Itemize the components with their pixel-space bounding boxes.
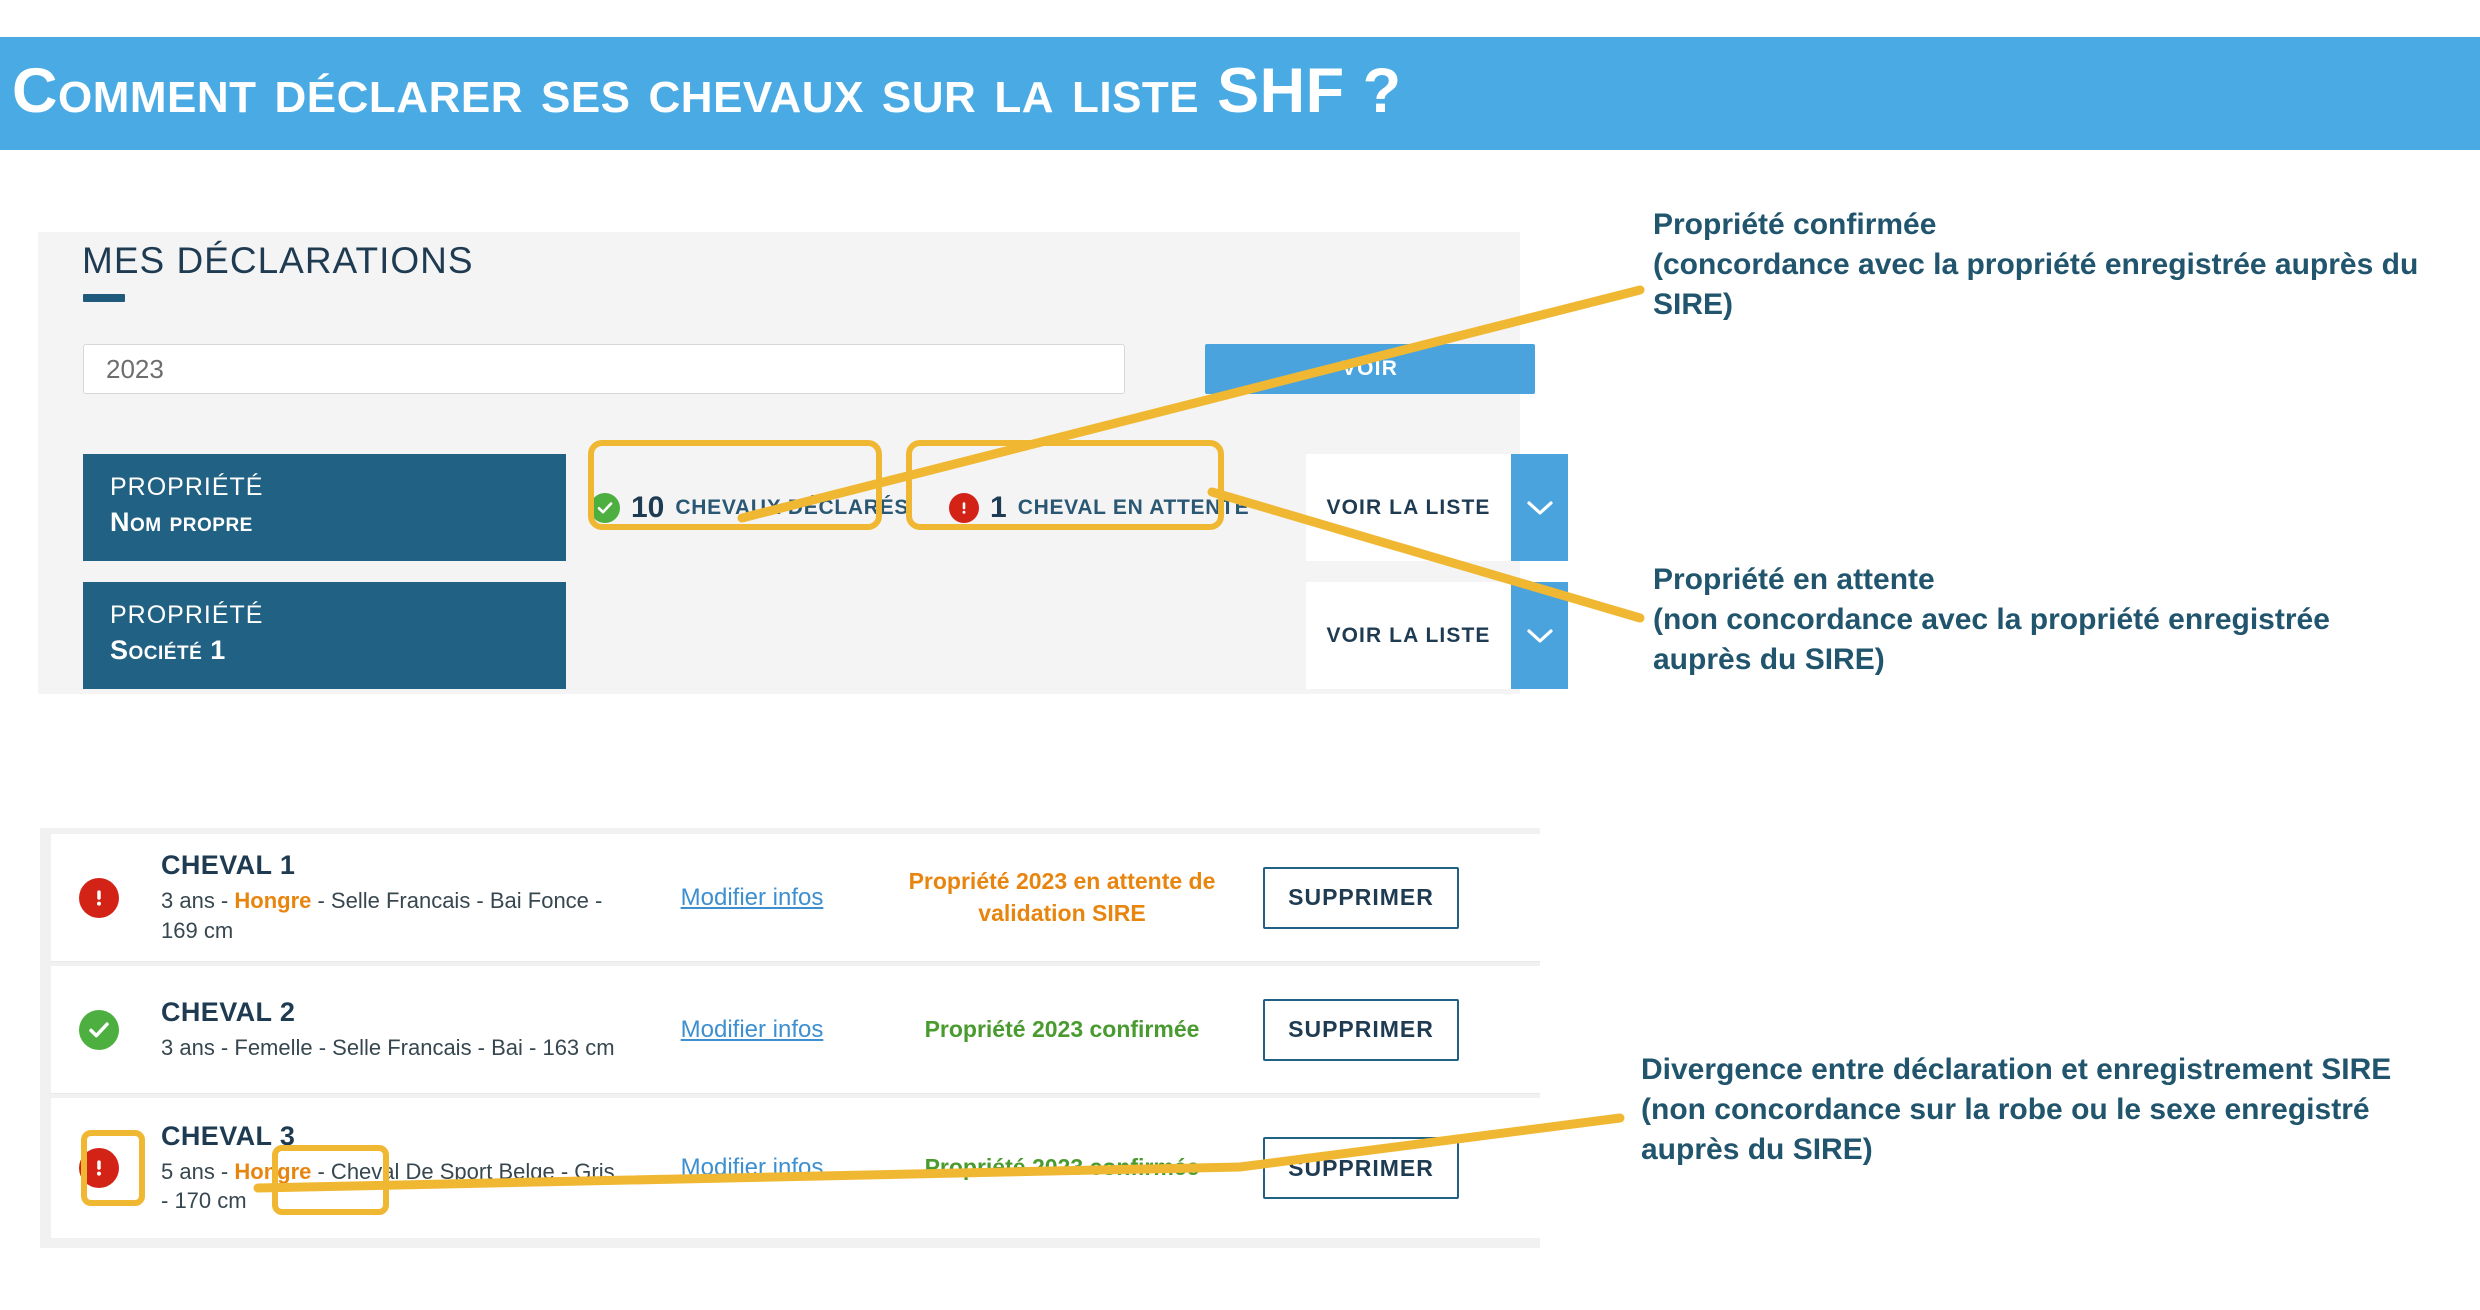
property-status: Propriété 2023 confirmée bbox=[877, 1014, 1247, 1046]
annotation-heading: Propriété en attente bbox=[1653, 560, 2353, 600]
property-status: Propriété 2023 en attente de validation … bbox=[877, 866, 1247, 929]
horse-desc-after: - Selle Francais - Bai - 163 cm bbox=[313, 1035, 615, 1060]
exclamation-circle-icon bbox=[79, 878, 119, 918]
action-cell: SUPPRIMER bbox=[1247, 867, 1540, 929]
horse-description: 5 ans - Hongre - Cheval De Sport Belge -… bbox=[161, 1157, 627, 1215]
property-owner-label: Nom propre bbox=[110, 505, 566, 540]
horse-name: CHEVAL 3 bbox=[161, 1121, 627, 1152]
property-status: Propriété 2023 confirmée bbox=[877, 1152, 1247, 1184]
status-cell bbox=[51, 1010, 147, 1050]
annotation-body: (concordance avec la propriété enregistr… bbox=[1653, 245, 2473, 325]
annotation-heading: Propriété confirmée bbox=[1653, 205, 2473, 245]
table-row: CHEVAL 1 3 ans - Hongre - Selle Francais… bbox=[51, 834, 1540, 962]
property-kind-label: PROPRIÉTÉ bbox=[110, 472, 566, 503]
badge-label: CHEVAUX DÉCLARÉS bbox=[675, 496, 909, 520]
modify-cell: Modifier infos bbox=[627, 884, 877, 912]
badge-cheval-en-attente[interactable]: 1 CHEVAL EN ATTENTE bbox=[935, 479, 1263, 537]
horse-name: CHEVAL 1 bbox=[161, 850, 627, 881]
table-row: CHEVAL 2 3 ans - Femelle - Selle Francai… bbox=[51, 966, 1540, 1094]
status-cell bbox=[51, 878, 147, 918]
supprimer-button[interactable]: SUPPRIMER bbox=[1263, 1137, 1459, 1199]
exclamation-circle-icon bbox=[79, 1148, 119, 1188]
annotation-heading: Divergence entre déclaration et enregist… bbox=[1641, 1050, 2441, 1090]
horse-sexe: Hongre bbox=[234, 888, 311, 913]
horse-info-cell: CHEVAL 2 3 ans - Femelle - Selle Francai… bbox=[147, 997, 627, 1062]
property-row-societe-1: PROPRIÉTÉ Société 1 VOIR LA LISTE bbox=[83, 582, 1568, 689]
property-label-block: PROPRIÉTÉ Nom propre bbox=[83, 454, 566, 561]
property-kind-label: PROPRIÉTÉ bbox=[110, 600, 566, 631]
voir-button[interactable]: VOIR bbox=[1205, 344, 1535, 394]
voir-la-liste-button[interactable]: VOIR LA LISTE bbox=[1306, 454, 1511, 561]
page-title: Comment déclarer ses chevaux sur la list… bbox=[12, 60, 1402, 123]
property-badges-area: 10 CHEVAUX DÉCLARÉS 1 CHEVAL EN ATTENTE bbox=[566, 454, 1306, 561]
horse-desc-before: 3 ans - bbox=[161, 1035, 234, 1060]
action-cell: SUPPRIMER bbox=[1247, 1137, 1540, 1199]
check-circle-icon bbox=[79, 1010, 119, 1050]
annotation-divergence: Divergence entre déclaration et enregist… bbox=[1641, 1050, 2441, 1170]
horse-desc-before: 3 ans - bbox=[161, 888, 234, 913]
property-row-nom-propre: PROPRIÉTÉ Nom propre 10 CHEVAUX DÉCLARÉS… bbox=[83, 454, 1568, 561]
badge-count: 10 bbox=[631, 491, 664, 525]
horse-desc-before: 5 ans - bbox=[161, 1159, 234, 1184]
property-owner-label: Société 1 bbox=[110, 633, 566, 668]
supprimer-button[interactable]: SUPPRIMER bbox=[1263, 867, 1459, 929]
annotation-body: (non concordance avec la propriété enreg… bbox=[1653, 600, 2353, 680]
slide-root: Comment déclarer ses chevaux sur la list… bbox=[0, 0, 2480, 1310]
annotation-propriete-confirmee: Propriété confirmée (concordance avec la… bbox=[1653, 205, 2473, 325]
table-row: CHEVAL 3 5 ans - Hongre - Cheval De Spor… bbox=[51, 1098, 1540, 1238]
badge-chevaux-declares[interactable]: 10 CHEVAUX DÉCLARÉS bbox=[576, 479, 923, 537]
title-underline bbox=[83, 294, 125, 302]
year-filter-row: VOIR bbox=[83, 344, 1473, 396]
horse-name: CHEVAL 2 bbox=[161, 997, 627, 1028]
annotation-propriete-en-attente: Propriété en attente (non concordance av… bbox=[1653, 560, 2353, 680]
status-cell bbox=[51, 1148, 147, 1188]
header-banner: Comment déclarer ses chevaux sur la list… bbox=[0, 37, 2480, 150]
declarations-panel: MES DÉCLARATIONS VOIR PROPRIÉTÉ Nom prop… bbox=[38, 232, 1520, 694]
exclamation-circle-icon bbox=[949, 493, 979, 523]
declarations-title: MES DÉCLARATIONS bbox=[82, 240, 474, 282]
badge-label: CHEVAL EN ATTENTE bbox=[1018, 496, 1250, 520]
modifier-infos-link[interactable]: Modifier infos bbox=[681, 884, 824, 911]
horse-info-cell: CHEVAL 3 5 ans - Hongre - Cheval De Spor… bbox=[147, 1121, 627, 1215]
horse-sexe: Femelle bbox=[234, 1035, 312, 1060]
chevron-down-icon[interactable] bbox=[1511, 582, 1568, 689]
horse-list: CHEVAL 1 3 ans - Hongre - Selle Francais… bbox=[40, 828, 1540, 1248]
horse-description: 3 ans - Femelle - Selle Francais - Bai -… bbox=[161, 1033, 627, 1062]
horse-sexe: Hongre bbox=[234, 1159, 311, 1184]
property-badges-area bbox=[566, 582, 1306, 689]
property-label-block: PROPRIÉTÉ Société 1 bbox=[83, 582, 566, 689]
modify-cell: Modifier infos bbox=[627, 1016, 877, 1044]
action-cell: SUPPRIMER bbox=[1247, 999, 1540, 1061]
chevron-down-icon[interactable] bbox=[1511, 454, 1568, 561]
check-circle-icon bbox=[590, 493, 620, 523]
year-input[interactable] bbox=[83, 344, 1125, 394]
badge-count: 1 bbox=[990, 491, 1007, 525]
modifier-infos-link[interactable]: Modifier infos bbox=[681, 1154, 824, 1181]
horse-description: 3 ans - Hongre - Selle Francais - Bai Fo… bbox=[161, 886, 627, 944]
modify-cell: Modifier infos bbox=[627, 1154, 877, 1182]
voir-la-liste-button[interactable]: VOIR LA LISTE bbox=[1306, 582, 1511, 689]
supprimer-button[interactable]: SUPPRIMER bbox=[1263, 999, 1459, 1061]
modifier-infos-link[interactable]: Modifier infos bbox=[681, 1016, 824, 1043]
annotation-body: (non concordance sur la robe ou le sexe … bbox=[1641, 1090, 2441, 1170]
horse-info-cell: CHEVAL 1 3 ans - Hongre - Selle Francais… bbox=[147, 850, 627, 944]
